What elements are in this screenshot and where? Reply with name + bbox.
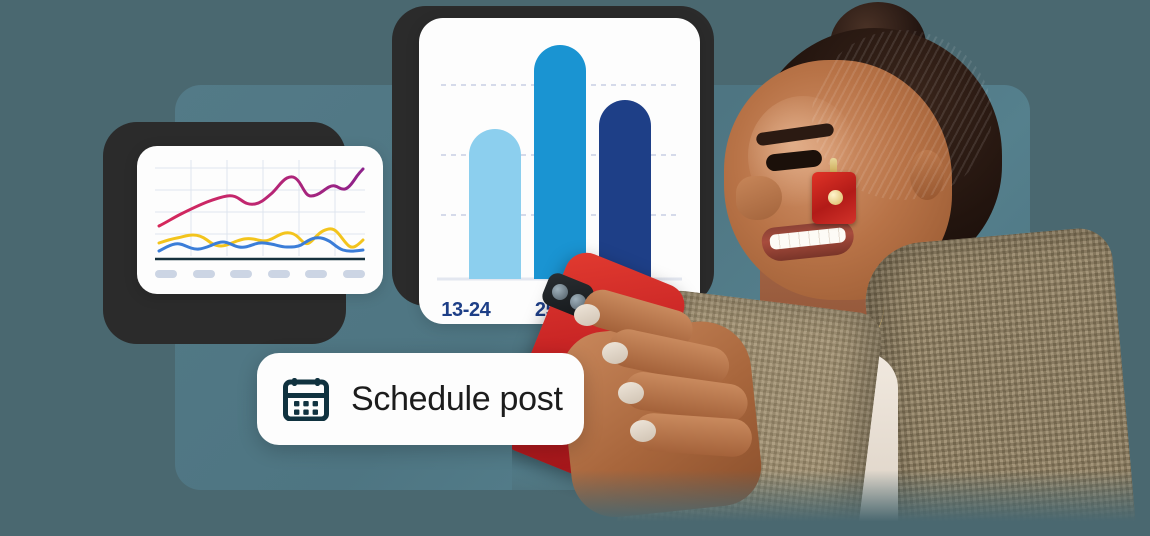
x-tick-pill bbox=[155, 270, 177, 278]
x-tick-pill bbox=[305, 270, 327, 278]
photo-woman-with-phone bbox=[512, 0, 1150, 536]
schedule-post-label: Schedule post bbox=[351, 380, 563, 419]
teeth bbox=[769, 227, 846, 250]
camera-lens bbox=[552, 284, 568, 300]
hero-illustration: 13-24 25-34 35-44 bbox=[0, 0, 1150, 536]
calendar-icon bbox=[283, 377, 329, 421]
photo-bottom-fade bbox=[512, 470, 1150, 536]
line-chart-plot bbox=[155, 160, 365, 264]
line-chart-card[interactable] bbox=[137, 146, 383, 294]
x-tick-pill bbox=[343, 270, 365, 278]
fingernail bbox=[630, 420, 656, 442]
x-tick-pill bbox=[268, 270, 290, 278]
x-tick-pill bbox=[230, 270, 252, 278]
fingernail bbox=[602, 342, 628, 364]
schedule-post-button[interactable]: Schedule post bbox=[257, 353, 584, 445]
line-chart-x-ticks bbox=[155, 268, 365, 280]
fingernail bbox=[574, 304, 600, 326]
earring-gem bbox=[828, 190, 843, 205]
bar-label-13-24: 13-24 bbox=[419, 296, 513, 324]
fingernail bbox=[618, 382, 644, 404]
line-series-1 bbox=[159, 169, 363, 226]
x-tick-pill bbox=[193, 270, 215, 278]
